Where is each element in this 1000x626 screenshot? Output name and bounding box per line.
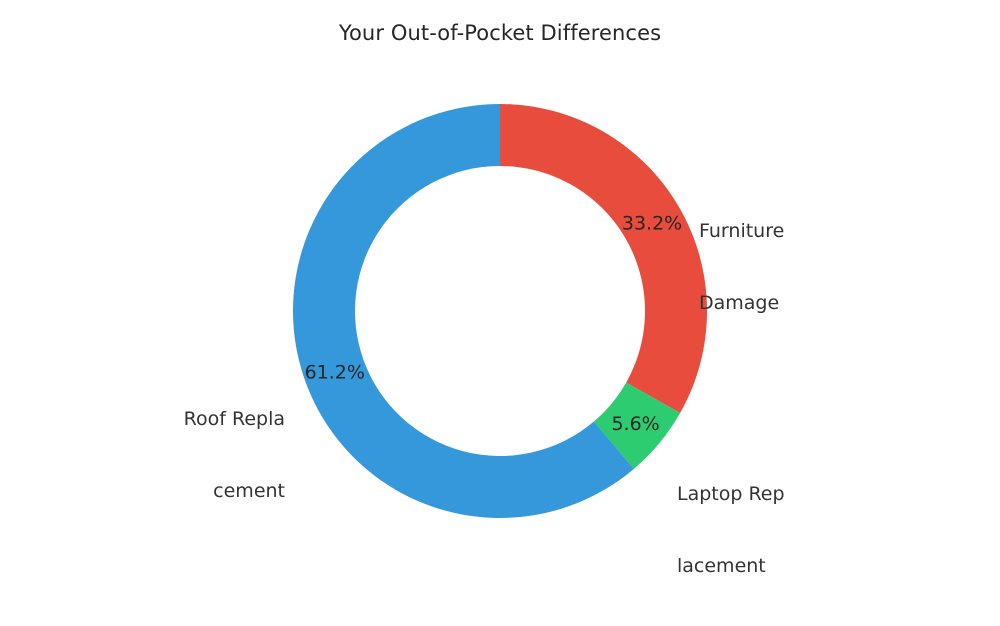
wedge-furniture-damage[interactable] [500,104,707,413]
percent-label-furniture-damage: 33.2% [622,212,682,234]
slice-label-laptop-replacement: Laptop Rep lacement [677,434,785,626]
slice-label-line2: cement [184,479,285,503]
donut-chart: 33.2% 5.6% 61.2% [0,0,1000,600]
percent-label-laptop-replacement: 5.6% [611,413,659,435]
slice-label-line2: Damage [699,291,784,315]
slice-label-roof-replacement: Roof Repla cement [184,359,285,551]
slice-label-line2: lacement [677,554,785,578]
slice-label-furniture-damage: Furniture Damage [699,171,784,363]
slice-label-line1: Roof Repla [184,407,285,431]
wedge-group [293,104,707,518]
slice-label-line1: Furniture [699,219,784,243]
chart-figure: Your Out-of-Pocket Differences 33.2% 5.6… [0,0,1000,600]
percent-label-roof-replacement: 61.2% [305,362,365,384]
slice-label-line1: Laptop Rep [677,482,785,506]
